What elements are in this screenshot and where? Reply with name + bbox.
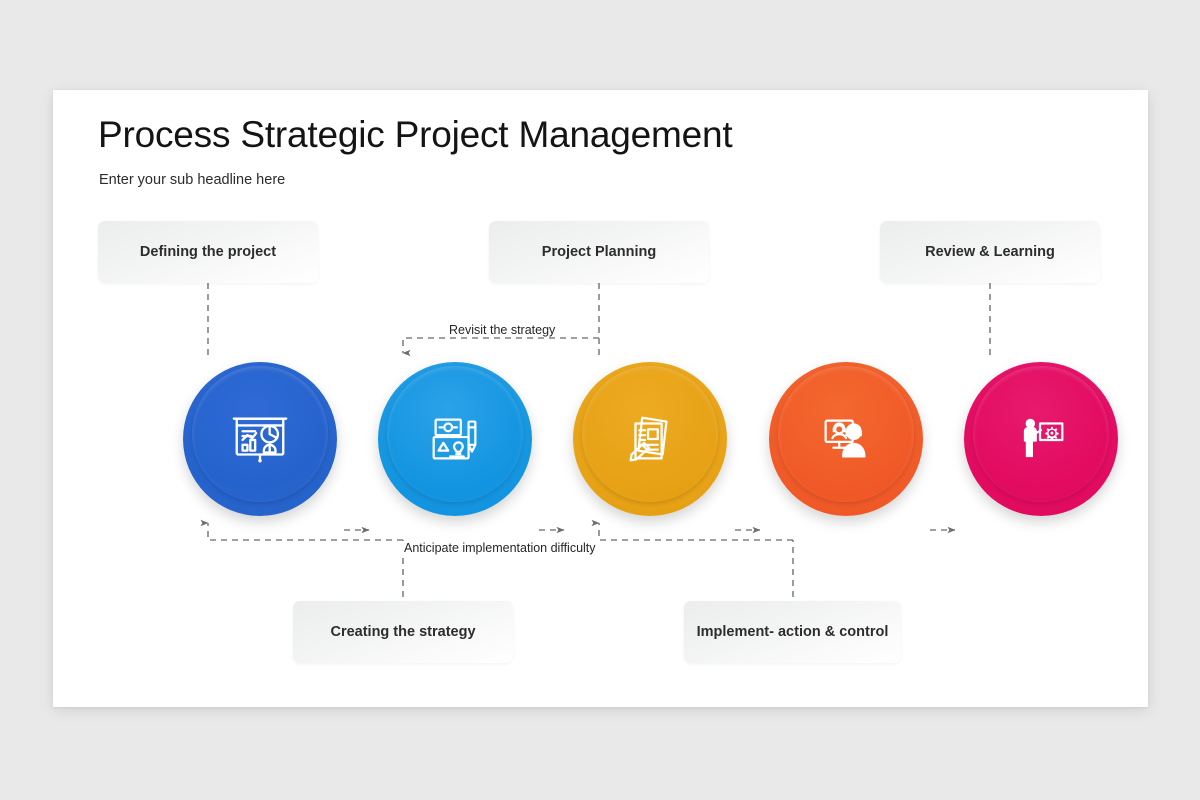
page-title: Process Strategic Project Management xyxy=(98,114,732,156)
connector-revisit-the-strategy xyxy=(403,338,599,353)
connector-anticipate-right xyxy=(599,523,793,540)
documents-pen-icon xyxy=(619,408,681,470)
process-node-creating-the-strategy[interactable] xyxy=(378,362,532,516)
process-node-implement-action-and-control[interactable] xyxy=(769,362,923,516)
process-node-defining-the-project[interactable] xyxy=(183,362,337,516)
label-box-text: Review & Learning xyxy=(925,244,1055,260)
presenter-gear-icon xyxy=(1010,408,1072,470)
connector-anticipate-left xyxy=(208,523,403,540)
label-box-implement-action-and-control[interactable]: Implement- action & control xyxy=(684,601,901,663)
label-box-text: Creating the strategy xyxy=(330,624,475,640)
label-box-creating-the-strategy[interactable]: Creating the strategy xyxy=(293,601,513,663)
label-box-text: Implement- action & control xyxy=(697,624,889,640)
connector-label-revisit: Revisit the strategy xyxy=(445,323,559,337)
slide-card: Process Strategic Project Management Ent… xyxy=(53,90,1148,707)
strategy-board-icon xyxy=(424,408,486,470)
label-box-review-and-learning[interactable]: Review & Learning xyxy=(880,221,1100,283)
label-box-project-planning[interactable]: Project Planning xyxy=(489,221,709,283)
video-call-icon xyxy=(815,408,877,470)
label-box-defining-the-project[interactable]: Defining the project xyxy=(98,221,318,283)
page-subtitle: Enter your sub headline here xyxy=(99,172,285,188)
presentation-chart-icon xyxy=(229,408,291,470)
connector-label-anticipate: Anticipate implementation difficulty xyxy=(400,541,600,555)
label-box-text: Defining the project xyxy=(140,244,276,260)
process-node-project-planning[interactable] xyxy=(573,362,727,516)
process-node-review-and-learning[interactable] xyxy=(964,362,1118,516)
label-box-text: Project Planning xyxy=(542,244,656,260)
